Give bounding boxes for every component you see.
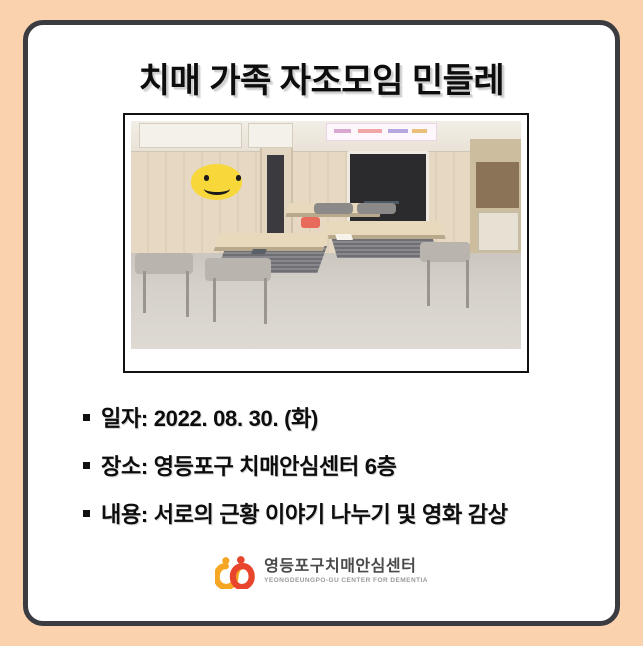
photo-chair-leg <box>427 260 430 306</box>
photo-chair <box>357 203 396 214</box>
photo-chair-leg <box>186 271 189 317</box>
photo-chair-leg <box>264 278 267 324</box>
photo-table-object <box>301 217 321 228</box>
detail-content-text: 내용: 서로의 근황 이야기 나누기 및 영화 감상 <box>101 497 508 529</box>
organization-name-en: YEONGDEUNGPO-GU CENTER FOR DEMENTIA <box>264 578 428 585</box>
photo-table <box>214 233 330 251</box>
footer-logo: 영등포구치매안심센터 YEONGDEUNGPO-GU CENTER FOR DE… <box>28 555 615 589</box>
photo-table-device <box>251 249 266 254</box>
photo-table-paper <box>335 234 352 240</box>
list-item: 일자: 2022. 08. 30. (화) <box>58 393 598 441</box>
two-people-loop-logo-icon <box>215 555 255 589</box>
photo-storage-box <box>476 162 519 208</box>
page-title: 치매 가족 자조모임 민들레 <box>28 53 615 102</box>
photo-wall-panel <box>139 123 242 148</box>
photo-chair-leg <box>466 260 469 308</box>
photo-wall-banner <box>326 123 437 141</box>
list-item: 내용: 서로의 근황 이야기 나누기 및 영화 감상 <box>58 489 598 537</box>
organization-name: 영등포구치매안심센터 <box>264 559 428 575</box>
photo-chair-leg <box>213 278 216 321</box>
photo-wall-panel <box>248 123 293 148</box>
square-bullet-icon <box>83 510 90 517</box>
photo-chair <box>205 258 271 281</box>
event-detail-list: 일자: 2022. 08. 30. (화) 장소: 영등포구 치매안심센터 6층… <box>58 393 598 537</box>
poster-card: 치매 가족 자조모임 민들레 <box>23 20 620 626</box>
detail-date-text: 일자: 2022. 08. 30. (화) <box>101 401 318 433</box>
list-item: 장소: 영등포구 치매안심센터 6층 <box>58 441 598 489</box>
smiley-face-emoji-overlay <box>191 164 242 199</box>
detail-location-text: 장소: 영등포구 치매안심센터 6층 <box>101 449 397 481</box>
photo-frame <box>123 113 529 373</box>
photo-chair <box>314 203 353 214</box>
event-photo <box>131 121 521 349</box>
photo-chair-leg <box>143 271 146 312</box>
square-bullet-icon <box>83 414 90 421</box>
square-bullet-icon <box>83 462 90 469</box>
photo-storage-shelf <box>478 212 519 250</box>
logo-text-block: 영등포구치매안심센터 YEONGDEUNGPO-GU CENTER FOR DE… <box>264 559 428 585</box>
